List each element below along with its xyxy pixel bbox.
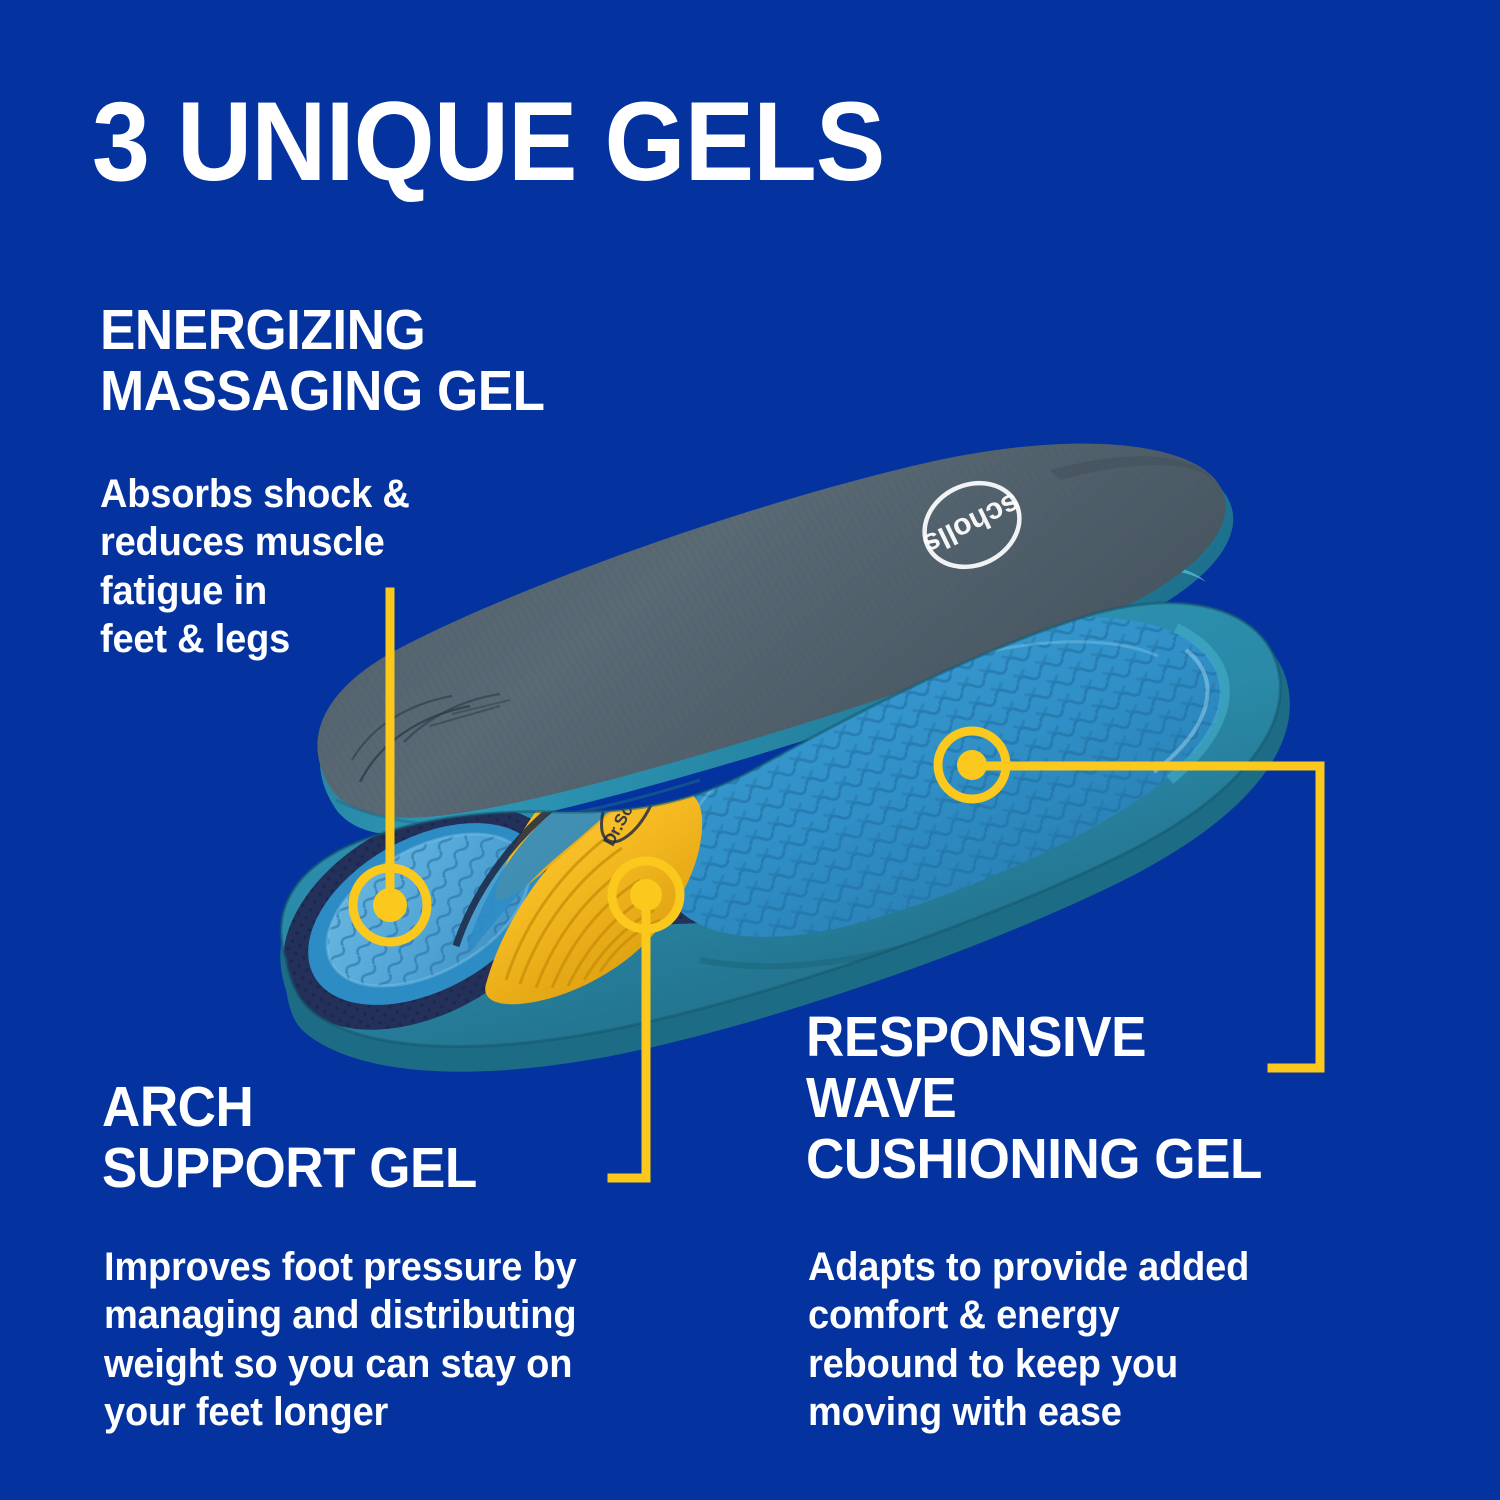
infographic-canvas: scholls: [0, 0, 1500, 1500]
feature-heading-arch: ARCH SUPPORT GEL: [102, 1077, 477, 1199]
feature-body-energizing: Absorbs shock & reduces muscle fatigue i…: [100, 470, 410, 664]
feature-heading-wave: RESPONSIVE WAVE CUSHIONING GEL: [806, 1007, 1262, 1190]
feature-heading-energizing: ENERGIZING MASSAGING GEL: [100, 300, 545, 422]
feature-body-wave: Adapts to provide added comfort & energy…: [808, 1243, 1249, 1437]
page-title: 3 UNIQUE GELS: [92, 86, 884, 198]
feature-body-arch: Improves foot pressure by managing and d…: [104, 1243, 577, 1437]
